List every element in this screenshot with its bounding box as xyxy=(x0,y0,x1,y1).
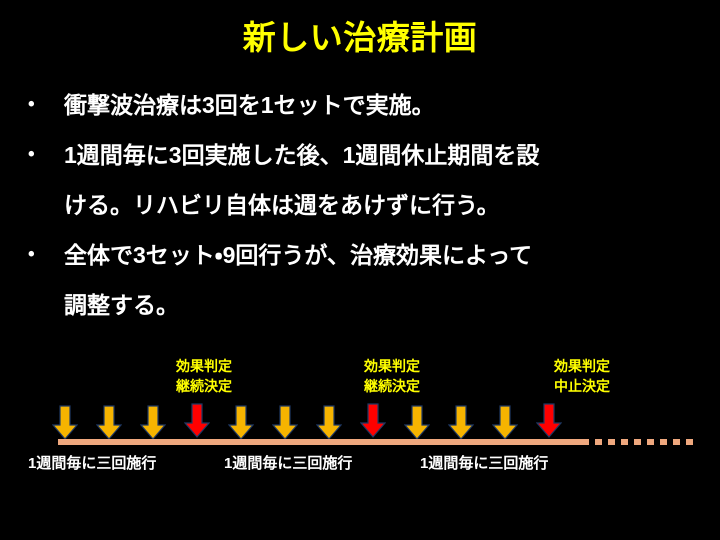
session-arrow-icon xyxy=(404,405,430,441)
bullet-marker-icon: • xyxy=(22,80,64,130)
set-caption-3: 1週間毎に三回施行 xyxy=(420,454,548,474)
bullet-marker-icon: • xyxy=(22,230,64,280)
session-arrow-icon xyxy=(272,405,298,441)
session-arrow-icon xyxy=(492,405,518,441)
bullet-text: 全体で3セット・9回行うが、治療効果によって xyxy=(64,230,702,280)
list-item: • 1週間毎に3回実施した後、1週間休止期間を設 xyxy=(22,130,702,180)
bullet-marker-icon: • xyxy=(22,130,64,180)
session-arrow-icon xyxy=(96,405,122,441)
bullet-list: • 衝撃波治療は3回を1セットで実施。 • 1週間毎に3回実施した後、1週間休止… xyxy=(22,80,702,330)
bullet-text: 1週間毎に3回実施した後、1週間休止期間を設 xyxy=(64,130,702,180)
evaluation-arrow-icon xyxy=(536,403,562,439)
evaluation-label-3-line2: 中止決定 xyxy=(554,376,610,396)
page-title: 新しい治療計画 xyxy=(0,20,720,56)
session-arrow-icon xyxy=(316,405,342,441)
timeline-bar-solid xyxy=(58,439,582,445)
list-item: • 衝撃波治療は3回を1セットで実施。 xyxy=(22,80,702,130)
slide-canvas: 新しい治療計画 • 衝撃波治療は3回を1セットで実施。 • 1週間毎に3回実施し… xyxy=(0,0,720,540)
evaluation-label-1-line1: 効果判定 xyxy=(176,358,232,374)
evaluation-label-1: 効果判定 継続決定 xyxy=(176,356,232,396)
evaluation-label-3-line1: 効果判定 xyxy=(554,358,610,374)
evaluation-arrow-icon xyxy=(184,403,210,439)
set-caption-2: 1週間毎に三回施行 xyxy=(224,454,352,474)
bullet-text: 衝撃波治療は3回を1セットで実施。 xyxy=(64,80,702,130)
treatment-timeline-diagram: 効果判定 継続決定 効果判定 継続決定 効果判定 中止決定 1週間毎に三回施行 … xyxy=(0,350,720,500)
evaluation-label-1-line2: 継続決定 xyxy=(176,376,232,396)
session-arrow-icon xyxy=(140,405,166,441)
list-item-continuation: 調整する。 xyxy=(22,280,702,330)
list-item-continuation: ける。リハビリ自体は週をあけずに行う。 xyxy=(22,180,702,230)
evaluation-label-2-line1: 効果判定 xyxy=(364,358,420,374)
bullet-text: 調整する。 xyxy=(64,280,702,330)
evaluation-arrow-icon xyxy=(360,403,386,439)
list-item: • 全体で3セット・9回行うが、治療効果によって xyxy=(22,230,702,280)
session-arrow-icon xyxy=(52,405,78,441)
evaluation-label-2: 効果判定 継続決定 xyxy=(364,356,420,396)
session-arrow-icon xyxy=(228,405,254,441)
timeline-bar-dashed xyxy=(582,439,696,445)
evaluation-label-3: 効果判定 中止決定 xyxy=(554,356,610,396)
session-arrow-icon xyxy=(448,405,474,441)
evaluation-label-2-line2: 継続決定 xyxy=(364,376,420,396)
set-caption-1: 1週間毎に三回施行 xyxy=(28,454,156,474)
bullet-text: ける。リハビリ自体は週をあけずに行う。 xyxy=(64,180,702,230)
